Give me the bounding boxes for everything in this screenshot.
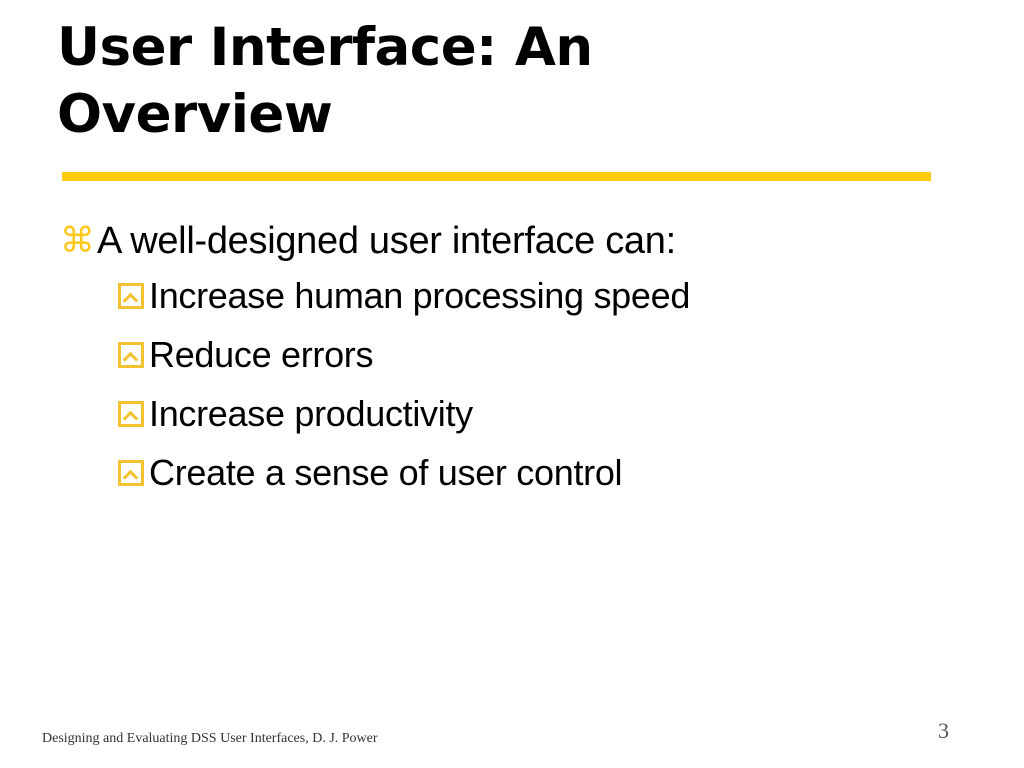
chevron-square-bullet-icon (118, 401, 144, 427)
title-container: User Interface: An Overview (57, 14, 937, 148)
list-item: Increase human processing speed (60, 273, 960, 331)
bullet-level2-label: Increase human processing speed (149, 273, 960, 319)
list-item: Create a sense of user control (60, 450, 960, 508)
footer-attribution: Designing and Evaluating DSS User Interf… (42, 730, 378, 748)
bullet-level1-label: A well-designed user interface can: (97, 218, 960, 264)
bullet-level2-label: Reduce errors (149, 332, 960, 378)
list-item: ⌘ A well-designed user interface can: (60, 218, 960, 264)
bullet-level2-label: Create a sense of user control (149, 450, 960, 496)
chevron-square-bullet-icon (118, 342, 144, 368)
command-bullet-icon: ⌘ (60, 218, 97, 264)
sub-bullet-list: Increase human processing speed Reduce e… (60, 273, 960, 508)
title-accent-divider (62, 172, 931, 181)
chevron-square-bullet-icon (118, 283, 144, 309)
slide-canvas: User Interface: An Overview ⌘ A well-des… (0, 0, 1024, 768)
chevron-square-bullet-icon (118, 460, 144, 486)
slide-number: 3 (938, 718, 949, 744)
bullet-level2-label: Increase productivity (149, 391, 960, 437)
content-body: ⌘ A well-designed user interface can: In… (60, 218, 960, 509)
list-item: Reduce errors (60, 332, 960, 390)
list-item: Increase productivity (60, 391, 960, 449)
page-title: User Interface: An Overview (57, 14, 937, 148)
